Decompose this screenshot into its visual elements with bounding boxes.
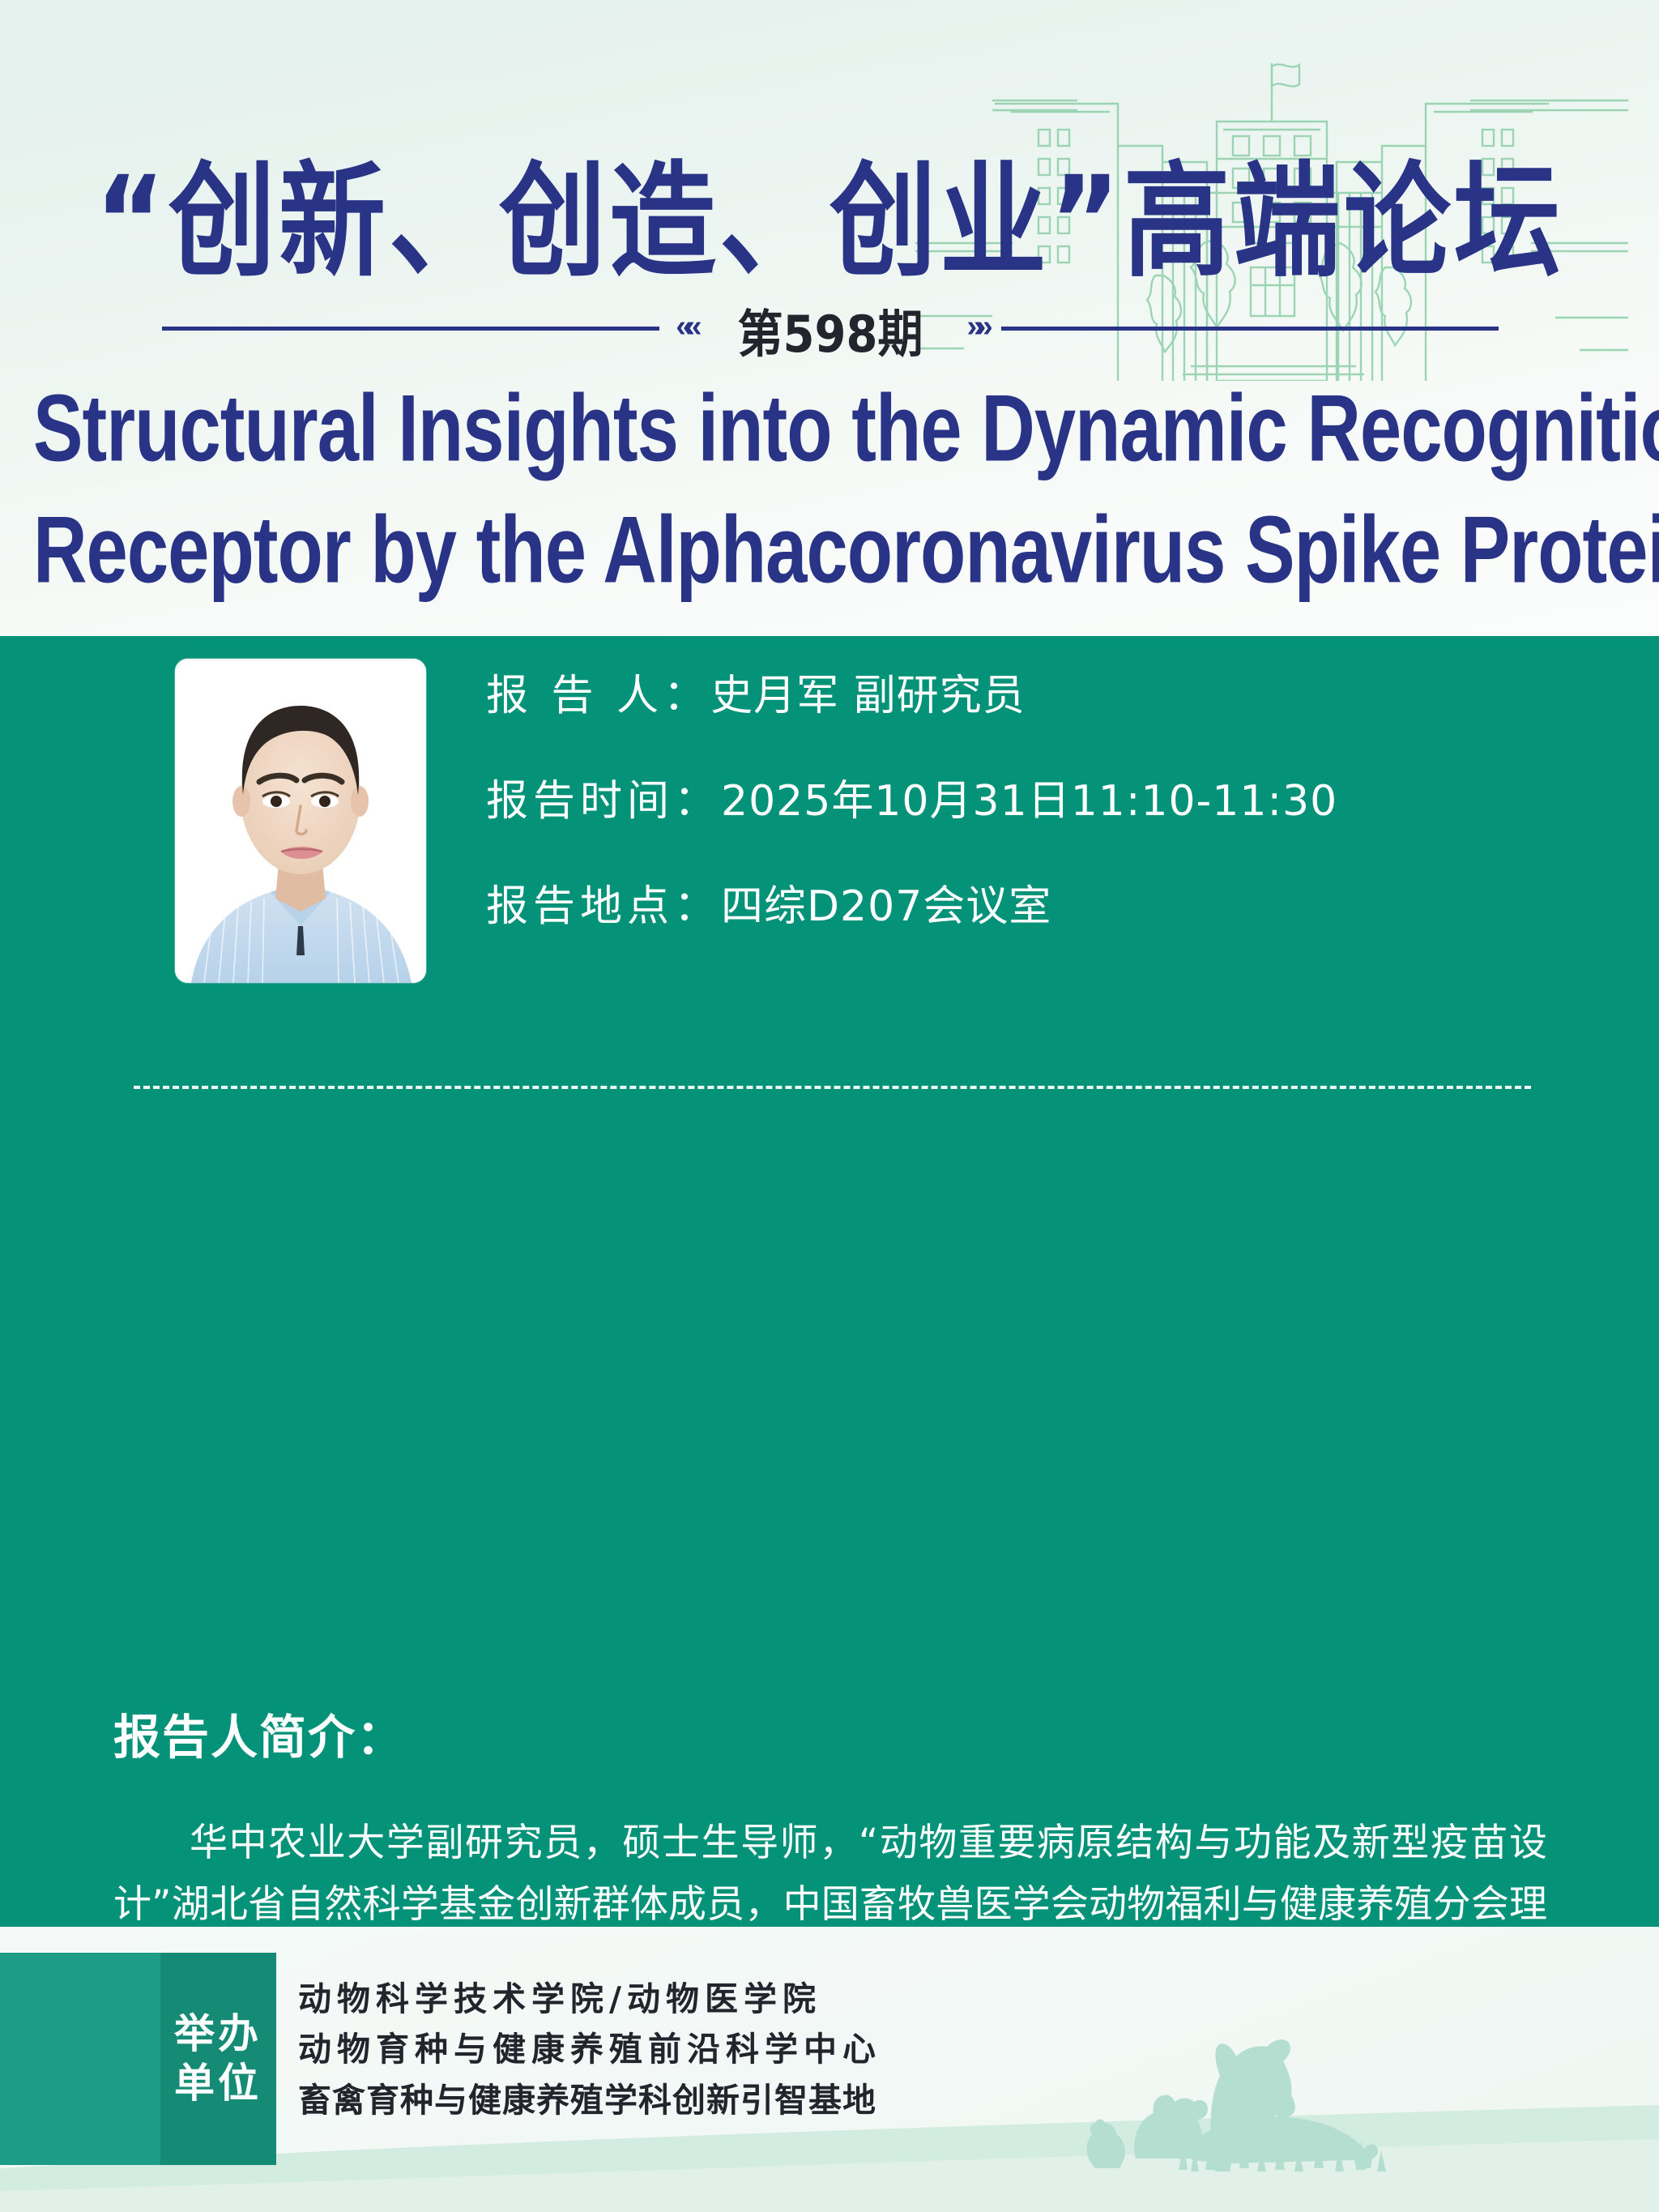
- host-organization-3: 畜禽育种与健康养殖学科创新引智基地: [298, 2075, 881, 2125]
- talk-title-en-line2: Receptor by the Alphacoronavirus Spike P…: [33, 490, 1626, 612]
- venue-value: 四综D207会议室: [721, 882, 1051, 931]
- chevron-left-icon: ««: [671, 311, 698, 342]
- host-label-line1: 举办: [174, 2009, 262, 2059]
- venue-row: 报告地点：四综D207会议室: [486, 886, 1563, 928]
- host-label-line2: 单位: [174, 2059, 262, 2108]
- speaker-label: 报 告 人：: [486, 672, 710, 720]
- forum-title-cn: “创新、创造、创业”高端论坛: [0, 122, 1659, 301]
- poster-root: “创新、创造、创业”高端论坛 «« 第598期 »» Structural In…: [0, 0, 1659, 2212]
- speaker-row: 报 告 人：史月军 副研究员: [486, 675, 1563, 717]
- time-row: 报告时间：2025年10月31日11:10-11:30: [486, 780, 1563, 822]
- speaker-value: 史月军 副研究员: [710, 672, 1026, 720]
- poster-body: 报 告 人：史月军 副研究员 报告时间：2025年10月31日11:10-11:…: [0, 636, 1659, 1927]
- host-organization-2: 动物育种与健康养殖前沿科学中心: [298, 2024, 881, 2074]
- bio-heading: 报告人简介：: [113, 1714, 405, 1761]
- talk-title-en: Structural Insights into the Dynamic Rec…: [33, 369, 1626, 612]
- issue-number: 第598期: [710, 293, 951, 367]
- issue-rule-right: [1001, 327, 1499, 331]
- speaker-portrait-image: [175, 659, 426, 983]
- host-organizations: 动物科学技术学院/动物医学院 动物育种与健康养殖前沿科学中心 畜禽育种与健康养殖…: [298, 1974, 881, 2125]
- issue-rule-left: [162, 327, 659, 331]
- speaker-portrait: [175, 659, 426, 983]
- poster-header: “创新、创造、创业”高端论坛 «« 第598期 »» Structural In…: [0, 0, 1659, 636]
- talk-title-en-line1: Structural Insights into the Dynamic Rec…: [33, 369, 1626, 490]
- time-value: 2025年10月31日11:10-11:30: [721, 777, 1337, 826]
- host-label-box: 举办 单位: [0, 1953, 276, 2165]
- host-organization-1: 动物科学技术学院/动物医学院: [298, 1974, 881, 2024]
- host-label: 举办 单位: [174, 2009, 276, 2108]
- chevron-right-icon: »»: [962, 311, 989, 342]
- section-divider: [134, 1086, 1531, 1089]
- venue-label: 报告地点：: [486, 882, 721, 931]
- poster-footer: 举办 单位 动物科学技术学院/动物医学院 动物育种与健康养殖前沿科学中心 畜禽育…: [0, 1927, 1659, 2212]
- time-label: 报告时间：: [486, 777, 721, 826]
- issue-divider: «« 第598期 »»: [162, 288, 1499, 369]
- talk-meta: 报 告 人：史月军 副研究员 报告时间：2025年10月31日11:10-11:…: [486, 675, 1563, 991]
